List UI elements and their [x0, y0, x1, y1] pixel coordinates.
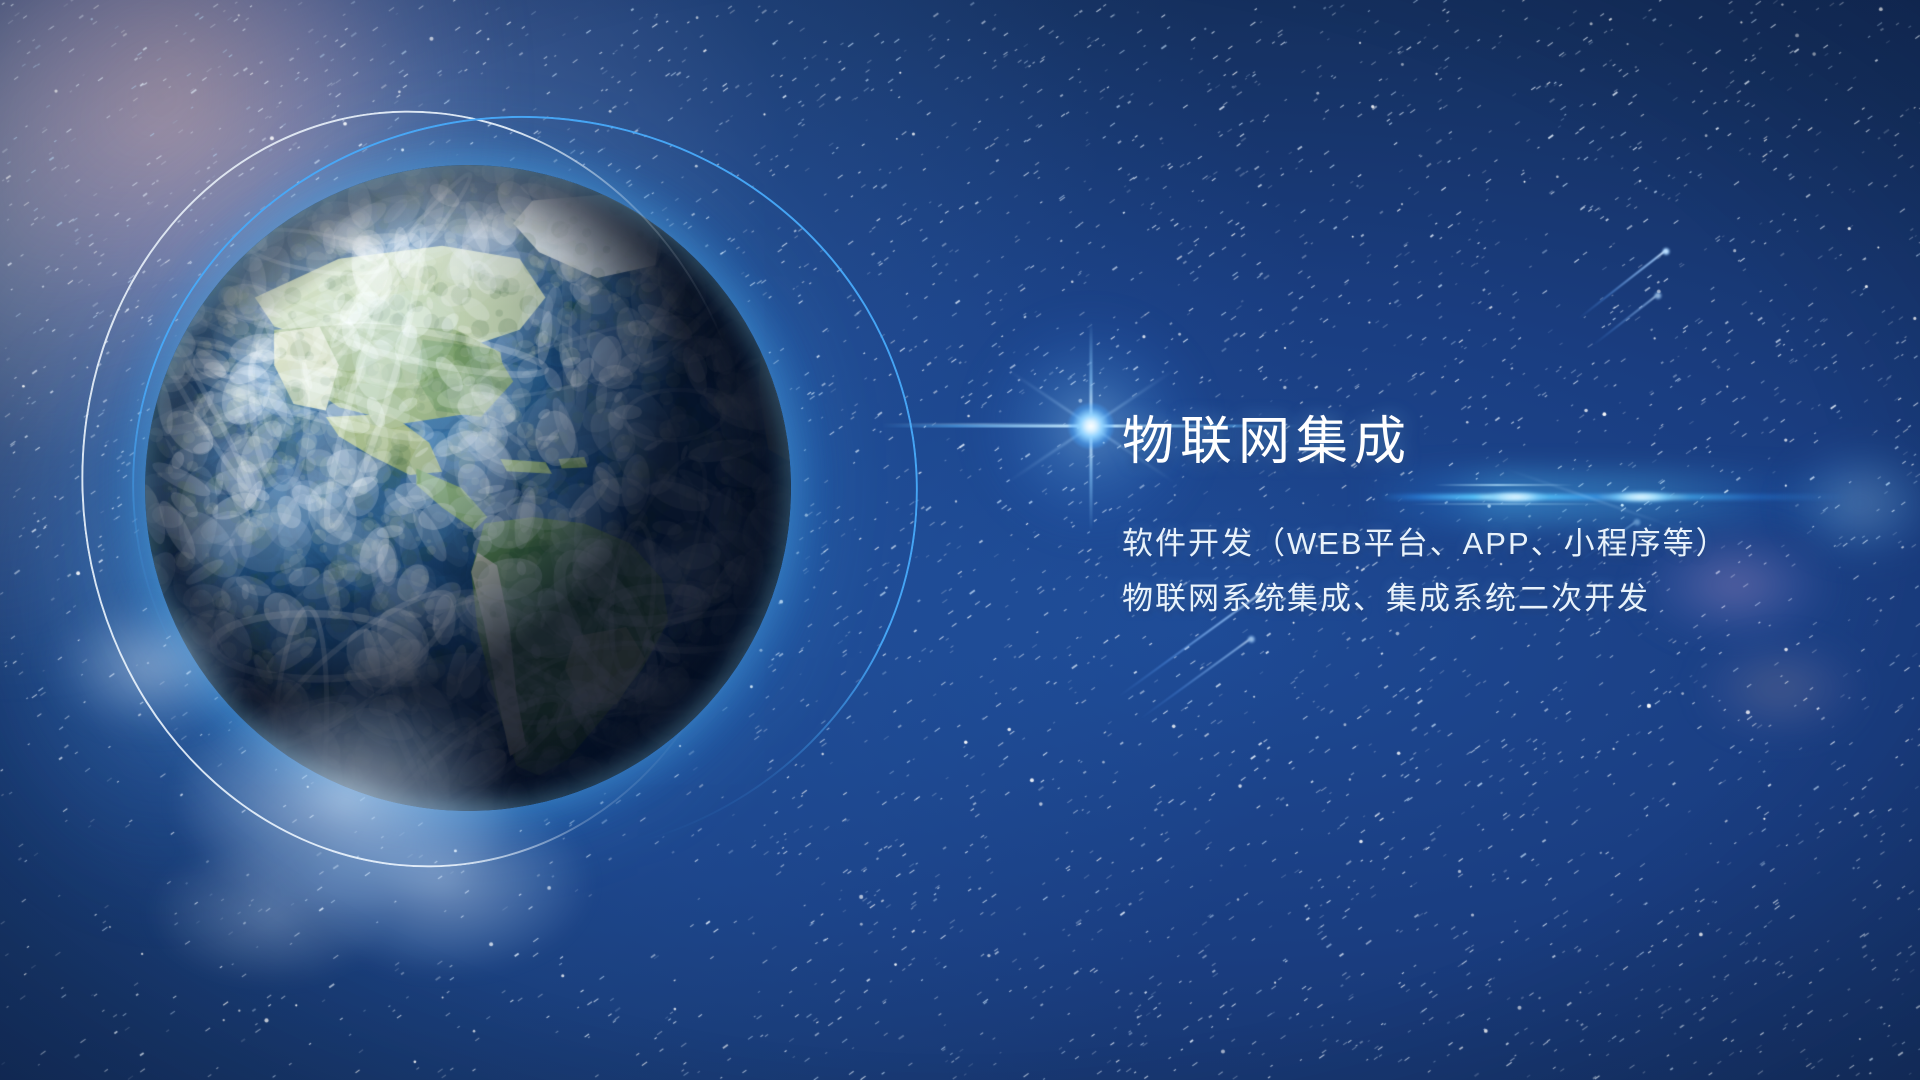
copy-block: 物联网集成 软件开发（WEB平台、APP、小程序等） 物联网系统集成、集成系统二… [1122, 416, 1882, 614]
subtitle-line-1: 软件开发（WEB平台、APP、小程序等） [1122, 528, 1882, 559]
iot-integration-banner: 物联网集成 软件开发（WEB平台、APP、小程序等） 物联网系统集成、集成系统二… [0, 0, 1920, 1080]
earth-globe [145, 165, 791, 811]
globe-sphere [145, 165, 791, 811]
subtitle-line-2: 物联网系统集成、集成系统二次开发 [1122, 583, 1882, 614]
page-title: 物联网集成 [1122, 416, 1882, 468]
